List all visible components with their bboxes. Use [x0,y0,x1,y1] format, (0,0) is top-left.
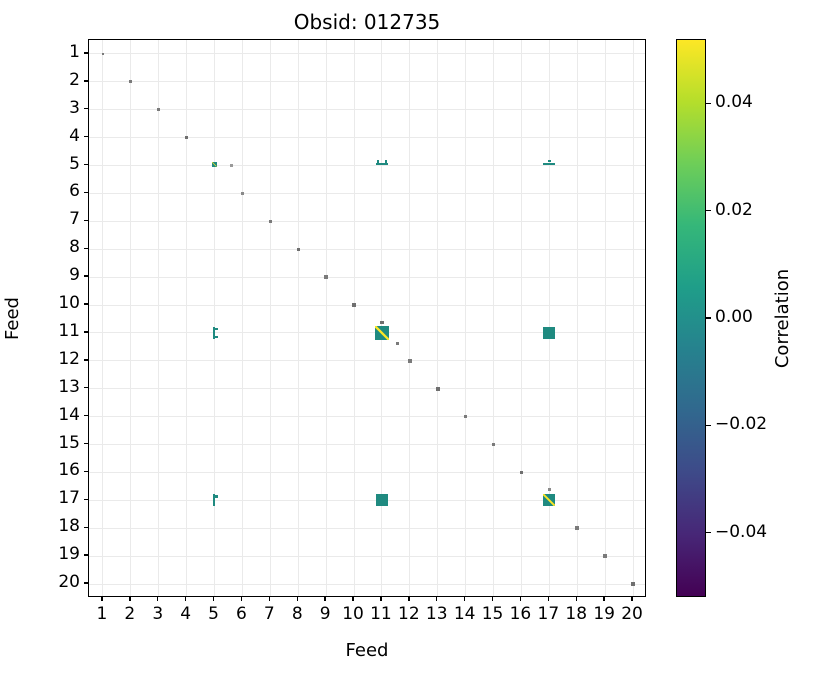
y-tick-mark [84,331,88,332]
x-tick-label: 11 [366,604,396,624]
colorbar-gradient [676,39,706,597]
y-tick-label: 9 [69,265,80,285]
gridline-horizontal [89,360,645,361]
heatmap-cell [520,471,524,475]
y-tick-label: 20 [58,572,80,592]
colorbar-tick-mark [706,103,711,104]
colorbar-label: Correlation [770,39,796,597]
y-axis-label: Feed [0,39,24,597]
gridline-horizontal [89,249,645,250]
x-axis-label: Feed [88,640,646,661]
y-tick-label: 7 [69,209,80,229]
gridline-horizontal [89,193,645,194]
gridline-vertical [242,40,243,596]
heatmap-cell [377,160,379,163]
y-tick-mark [84,164,88,165]
heatmap-cell [297,248,300,251]
y-tick-label: 3 [69,98,80,118]
x-tick-mark [520,597,521,601]
x-tick-mark [129,597,130,601]
heatmap-cell [215,495,218,497]
gridline-horizontal [89,137,645,138]
gridline-vertical [549,40,550,596]
x-tick-mark [324,597,325,601]
correlation-matrix-figure: Obsid: 012735 12345678910111213141516171… [0,0,825,678]
gridline-vertical [102,40,103,596]
y-tick-label: 6 [69,181,80,201]
x-tick-label: 20 [617,604,647,624]
gridline-vertical [158,40,159,596]
x-tick-mark [269,597,270,601]
y-tick-label: 14 [58,405,80,425]
heatmap-cell [215,336,218,338]
gridline-vertical [577,40,578,596]
x-tick-mark [408,597,409,601]
y-tick-mark [84,582,88,583]
x-tick-label: 13 [422,604,452,624]
gridline-vertical [381,40,382,596]
heatmap-cell [185,136,188,139]
page-title: Obsid: 012735 [88,10,646,34]
heatmap-cell [129,80,132,83]
y-tick-label: 10 [58,293,80,313]
colorbar-tick-label: −0.02 [715,414,767,434]
x-tick-mark [576,597,577,601]
heatmap-cell [212,162,216,166]
gridline-horizontal [89,528,645,529]
heatmap-cell [543,163,555,165]
gridline-horizontal [89,81,645,82]
y-tick-mark [84,80,88,81]
y-tick-label: 2 [69,70,80,90]
gridline-vertical [270,40,271,596]
gridline-vertical [130,40,131,596]
heatmap-cell [376,494,388,506]
heatmap-cell [464,415,468,419]
heatmap-cell [548,488,551,491]
x-tick-label: 5 [199,604,229,624]
x-tick-mark [548,597,549,601]
heatmap-cell [396,342,399,345]
y-tick-label: 15 [58,433,80,453]
x-tick-label: 10 [338,604,368,624]
colorbar-tick-mark [706,425,711,426]
gridline-vertical [298,40,299,596]
x-tick-label: 17 [533,604,563,624]
x-tick-label: 9 [310,604,340,624]
y-tick-mark [84,499,88,500]
gridline-vertical [186,40,187,596]
y-tick-mark [84,527,88,528]
gridline-vertical [437,40,438,596]
x-tick-label: 1 [87,604,117,624]
heatmap-cell [385,160,387,163]
heatmap-cell [631,582,635,586]
x-tick-label: 8 [282,604,312,624]
self-correlation-stripe [212,162,216,166]
y-tick-mark [84,554,88,555]
gridline-horizontal [89,388,645,389]
gridline-vertical [326,40,327,596]
y-tick-label: 11 [58,321,80,341]
x-tick-label: 14 [450,604,480,624]
x-tick-label: 2 [115,604,145,624]
heatmap-cell [436,387,440,391]
heatmap-cell [575,526,579,530]
y-tick-label: 16 [58,460,80,480]
y-tick-mark [84,471,88,472]
gridline-vertical [465,40,466,596]
x-tick-mark [436,597,437,601]
heatmap-cell [230,164,233,167]
y-tick-mark [84,248,88,249]
heatmap-cell [548,160,551,163]
heatmap-cell [324,275,327,278]
self-correlation-stripe [543,494,555,506]
x-tick-mark [297,597,298,601]
y-tick-mark [84,275,88,276]
heatmap-cell [603,554,607,558]
x-tick-mark [185,597,186,601]
x-tick-mark [492,597,493,601]
gridline-vertical [521,40,522,596]
heatmap-cell [157,108,160,111]
x-tick-label: 19 [589,604,619,624]
y-tick-mark [84,220,88,221]
plot-axes [88,39,646,597]
x-tick-label: 15 [478,604,508,624]
colorbar-tick-mark [706,317,711,318]
y-tick-label: 13 [58,377,80,397]
y-tick-label: 19 [58,544,80,564]
heatmap-cell [543,494,555,506]
gridline-vertical [409,40,410,596]
y-tick-label: 18 [58,516,80,536]
x-tick-mark [380,597,381,601]
y-tick-mark [84,192,88,193]
y-tick-label: 1 [69,42,80,62]
y-tick-mark [84,108,88,109]
colorbar-tick-label: −0.04 [715,522,767,542]
gridline-horizontal [89,584,645,585]
heatmap-canvas [89,40,645,596]
y-tick-label: 12 [58,349,80,369]
x-tick-mark [464,597,465,601]
gridline-horizontal [89,53,645,54]
y-tick-mark [84,303,88,304]
gridline-horizontal [89,165,645,166]
x-tick-mark [241,597,242,601]
x-tick-mark [157,597,158,601]
y-tick-label: 8 [69,237,80,257]
x-tick-mark [631,597,632,601]
x-tick-label: 12 [394,604,424,624]
heatmap-cell [241,192,244,195]
gridline-horizontal [89,416,645,417]
gridline-horizontal [89,332,645,333]
heatmap-cell [215,328,218,330]
x-tick-mark [213,597,214,601]
heatmap-cell [376,163,389,165]
x-tick-mark [101,597,102,601]
colorbar-tick-mark [706,210,711,211]
x-tick-mark [352,597,353,601]
x-tick-label: 6 [226,604,256,624]
y-tick-label: 17 [58,488,80,508]
gridline-horizontal [89,472,645,473]
x-tick-label: 4 [171,604,201,624]
y-tick-mark [84,387,88,388]
self-correlation-stripe [375,326,389,340]
y-tick-mark [84,359,88,360]
colorbar: 0.040.020.00−0.02−0.04 [676,39,706,597]
heatmap-cell [380,321,383,324]
colorbar-tick-label: 0.02 [715,200,753,220]
gridline-horizontal [89,444,645,445]
x-tick-mark [603,597,604,601]
y-tick-mark [84,52,88,53]
y-axis-label-text: Feed [2,297,23,340]
gridline-horizontal [89,556,645,557]
colorbar-label-text: Correlation [773,268,794,367]
gridline-vertical [493,40,494,596]
x-tick-label: 7 [254,604,284,624]
gridline-vertical [605,40,606,596]
heatmap-cell [269,220,272,223]
y-tick-mark [84,136,88,137]
gridline-vertical [633,40,634,596]
y-tick-mark [84,415,88,416]
heatmap-cell [352,303,356,307]
heatmap-cell [492,443,496,447]
y-tick-label: 5 [69,154,80,174]
gridline-vertical [214,40,215,596]
x-tick-label: 3 [143,604,173,624]
colorbar-tick-label: 0.04 [715,92,753,112]
colorbar-tick-mark [706,532,711,533]
x-tick-label: 18 [561,604,591,624]
gridline-horizontal [89,305,645,306]
gridline-horizontal [89,277,645,278]
gridline-vertical [354,40,355,596]
heatmap-cell [408,359,412,363]
gridline-horizontal [89,221,645,222]
y-tick-mark [84,443,88,444]
colorbar-tick-label: 0.00 [715,307,753,327]
gridline-horizontal [89,500,645,501]
gridline-horizontal [89,109,645,110]
heatmap-cell [375,326,389,340]
y-tick-label: 4 [69,126,80,146]
heatmap-cell [543,327,555,339]
x-tick-label: 16 [505,604,535,624]
heatmap-cell [102,53,105,56]
